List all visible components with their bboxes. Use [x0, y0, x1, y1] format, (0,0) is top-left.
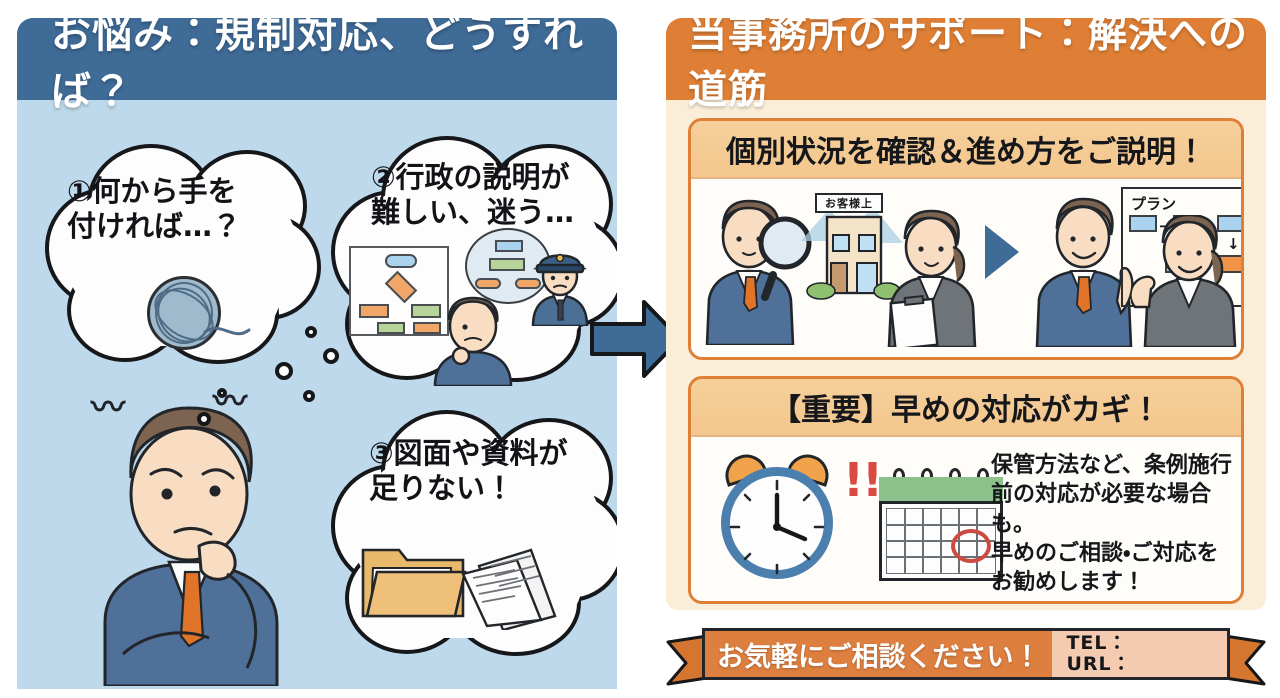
building-sign: お客様上 [815, 193, 883, 213]
contact-fields: TEL： URL： [1052, 631, 1227, 677]
calendar-icon [879, 477, 1003, 581]
problem-panel: お悩み：規制対応、どうすれば？ ①何から手を 付ければ…？ [17, 18, 617, 689]
government-officer-icon [525, 234, 595, 326]
bubble-dot [303, 390, 315, 402]
bubble-dot [217, 388, 227, 398]
tel-field[interactable]: TEL： [1066, 633, 1227, 654]
scene-separator-arrow-icon [985, 225, 1019, 279]
worried-businessman [77, 386, 327, 686]
exclamation-marks: !! [843, 453, 881, 507]
problem-panel-header: お悩み：規制対応、どうすれば？ [17, 18, 617, 100]
folder-icon [359, 538, 467, 620]
card-consult-illustration: お客様上 [691, 179, 1241, 359]
card-important-caption: 【重要】早めの対応がカギ！ [771, 385, 1161, 429]
advisor-with-clipboard-icon [881, 209, 981, 347]
confusion-squiggle-icon-2: 〰 [213, 374, 247, 423]
infographic-canvas: お悩み：規制対応、どうすれば？ ①何から手を 付ければ…？ [0, 0, 1280, 698]
url-field[interactable]: URL： [1066, 654, 1227, 675]
documents-icon [457, 522, 563, 630]
bubble-dot [275, 362, 293, 380]
bubble-dot [323, 348, 339, 364]
confusion-squiggle-icon: 〰 [91, 380, 125, 429]
support-panel: 当事務所のサポート：解決への道筋 個別状況を確認＆進め方をご説明！ [666, 18, 1266, 610]
tel-label: TEL： [1066, 632, 1127, 654]
contact-ribbon-body: お気軽にご相談ください！ TEL： URL： [702, 628, 1230, 680]
alarm-clock-icon [713, 453, 841, 581]
thought-bubble-2: ②行政の説明が 難しい、迷う… [329, 136, 617, 386]
problem-panel-title: お悩み：規制対応、どうすれば？ [51, 18, 617, 117]
thought-bubble-1: ①何から手を 付ければ…？ [39, 140, 329, 365]
url-label: URL： [1066, 653, 1131, 675]
plan-board-label: プラン [1131, 193, 1176, 214]
card-consult-caption: 個別状況を確認＆進め方をご説明！ [726, 127, 1206, 171]
card-important-content: !! 保管方法など、条例施行 前の対応が必 [691, 437, 1241, 603]
card-consult-caption-bar: 個別状況を確認＆進め方をご説明！ [691, 121, 1241, 179]
contact-ribbon: お気軽にご相談ください！ TEL： URL： [666, 624, 1266, 686]
calendar-deadline-circle [951, 529, 991, 563]
bubble-dot [197, 412, 211, 426]
card-important-caption-bar: 【重要】早めの対応がカギ！ [691, 379, 1241, 437]
card-important: 【重要】早めの対応がカギ！ [688, 376, 1244, 604]
thought-bubble-3: ③図面や資料が 足りない！ [329, 410, 617, 660]
bubble-dot [305, 326, 317, 338]
important-note-text: 保管方法など、条例施行 前の対応が必要な場合も。 早めのご相談・ご対応を お勧め… [991, 451, 1241, 597]
thought-bubble-1-text: ①何から手を 付ければ…？ [67, 174, 241, 245]
advisor-presenting-icon [1131, 215, 1239, 347]
support-panel-header: 当事務所のサポート：解決への道筋 [666, 18, 1266, 100]
contact-cta: お気軽にご相談ください！ [705, 631, 1052, 677]
thought-bubble-3-text: ③図面や資料が 足りない！ [369, 436, 568, 507]
confused-person-icon [425, 286, 521, 386]
card-consult: 個別状況を確認＆進め方をご説明！ [688, 118, 1244, 360]
support-panel-title: 当事務所のサポート：解決への道筋 [688, 18, 1266, 115]
yarn-ball-icon [147, 276, 221, 350]
thought-bubble-2-text: ②行政の説明が 難しい、迷う… [371, 160, 574, 231]
